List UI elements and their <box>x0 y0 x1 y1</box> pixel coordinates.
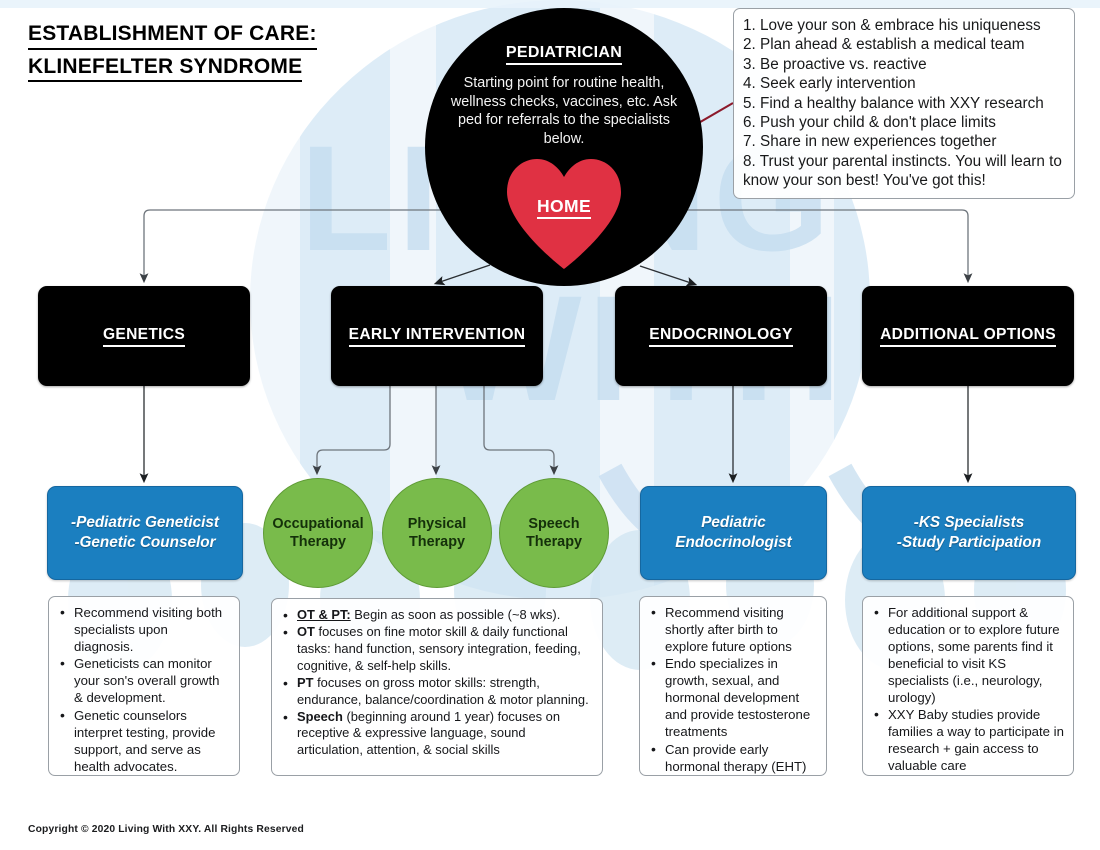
category-additional-options-label: ADDITIONAL OPTIONS <box>880 326 1056 347</box>
notes-endo-item: Recommend visiting shortly after birth t… <box>663 605 817 656</box>
heart-home[interactable]: HOME <box>503 156 625 272</box>
tip-item-1: 1. Love your son & embrace his uniquenes… <box>743 16 1066 35</box>
category-additional-options[interactable]: ADDITIONAL OPTIONS <box>862 286 1074 386</box>
notes-early-rest: focuses on fine motor skill & daily func… <box>297 624 581 672</box>
connector-hub-to-genetics <box>144 210 448 280</box>
therapy-physical-line2: Therapy <box>409 534 465 550</box>
notes-early-intervention: OT & PT: Begin as soon as possible (~8 w… <box>271 598 603 776</box>
provider-additional-line1: -KS Specialists <box>914 514 1025 531</box>
therapy-physical-line1: Physical <box>408 516 466 532</box>
notes-early-item: PT focuses on gross motor skills: streng… <box>295 675 593 708</box>
connector-hub-to-addl <box>682 210 968 280</box>
provider-genetics-line2: -Genetic Counselor <box>74 534 215 551</box>
notes-endocrinology: Recommend visiting shortly after birth t… <box>639 596 827 776</box>
notes-early-item: OT & PT: Begin as soon as possible (~8 w… <box>295 607 593 624</box>
category-endocrinology[interactable]: ENDOCRINOLOGY <box>615 286 827 386</box>
connector-early-to-ot <box>317 386 390 472</box>
page-title-line1: ESTABLISHMENT OF CARE: <box>28 20 317 50</box>
pediatrician-hub[interactable]: PEDIATRICIAN Starting point for routine … <box>425 8 703 286</box>
notes-genetics: Recommend visiting both specialists upon… <box>48 596 240 776</box>
notes-early-rest: focuses on gross motor skills: strength,… <box>297 675 589 707</box>
notes-early-item: Speech (beginning around 1 year) focuses… <box>295 709 593 759</box>
notes-genetics-item: Geneticists can monitor your son's overa… <box>72 656 230 707</box>
hub-description: Starting point for routine health, welln… <box>445 74 683 149</box>
therapy-occupational[interactable]: Occupational Therapy <box>263 478 373 588</box>
provider-endocrinologist[interactable]: Pediatric Endocrinologist <box>640 486 827 580</box>
notes-early-lead: PT <box>297 675 313 690</box>
category-endocrinology-label: ENDOCRINOLOGY <box>649 326 792 347</box>
notes-early-item: OT focuses on fine motor skill & daily f… <box>295 624 593 674</box>
category-early-intervention-label: EARLY INTERVENTION <box>349 326 526 347</box>
notes-genetics-item: Genetic counselors interpret testing, pr… <box>72 708 230 776</box>
tip-item-3: 3. Be proactive vs. reactive <box>743 55 1066 74</box>
copyright-footer: Copyright © 2020 Living With XXY. All Ri… <box>28 824 304 835</box>
therapy-occupational-line2: Therapy <box>290 534 346 550</box>
notes-early-lead: Speech <box>297 709 343 724</box>
notes-addl-item: For additional support & education or to… <box>886 605 1064 707</box>
therapy-speech-line1: Speech <box>528 516 579 532</box>
therapy-occupational-line1: Occupational <box>272 516 363 532</box>
notes-early-lead: OT & PT: <box>297 607 351 622</box>
page-title-line2: KLINEFELTER SYNDROME <box>28 53 302 83</box>
notes-endo-item: Can provide early hormonal therapy (EHT) <box>663 742 817 776</box>
parent-tips-box: 1. Love your son & embrace his uniquenes… <box>733 8 1075 199</box>
connector-hub-to-endo <box>640 266 694 284</box>
notes-addl-item: XXY Baby studies provide families a way … <box>886 707 1064 775</box>
tip-item-8: 8. Trust your parental instincts. You wi… <box>743 152 1066 191</box>
category-genetics-label: GENETICS <box>103 326 185 347</box>
therapy-speech[interactable]: Speech Therapy <box>499 478 609 588</box>
provider-additional-line2: -Study Participation <box>897 534 1041 551</box>
provider-genetics-line1: -Pediatric Geneticist <box>71 514 219 531</box>
provider-endocrinologist-line1: Pediatric <box>701 514 766 531</box>
provider-endocrinologist-line2: Endocrinologist <box>675 534 791 551</box>
notes-genetics-item: Recommend visiting both specialists upon… <box>72 605 230 656</box>
notes-additional-options: For additional support & education or to… <box>862 596 1074 776</box>
tip-item-4: 4. Seek early intervention <box>743 74 1066 93</box>
notes-endo-item: Endo specializes in growth, sexual, and … <box>663 656 817 741</box>
tip-item-6: 6. Push your child & don't place limits <box>743 113 1066 132</box>
tip-item-2: 2. Plan ahead & establish a medical team <box>743 35 1066 54</box>
category-genetics[interactable]: GENETICS <box>38 286 250 386</box>
category-early-intervention[interactable]: EARLY INTERVENTION <box>331 286 543 386</box>
connector-hub-to-early <box>437 265 490 283</box>
infographic-page: LIVING WITH <box>0 0 1100 850</box>
connector-early-to-speech <box>484 386 554 472</box>
therapy-physical[interactable]: Physical Therapy <box>382 478 492 588</box>
notes-early-lead: OT <box>297 624 315 639</box>
therapy-speech-line2: Therapy <box>526 534 582 550</box>
provider-genetics[interactable]: -Pediatric Geneticist -Genetic Counselor <box>47 486 243 580</box>
tip-item-5: 5. Find a healthy balance with XXY resea… <box>743 94 1066 113</box>
tip-item-7: 7. Share in new experiences together <box>743 132 1066 151</box>
notes-early-rest: Begin as soon as possible (~8 wks). <box>351 607 561 622</box>
hub-title: PEDIATRICIAN <box>506 44 622 65</box>
provider-additional-options[interactable]: -KS Specialists -Study Participation <box>862 486 1076 580</box>
page-title: ESTABLISHMENT OF CARE: KLINEFELTER SYNDR… <box>28 20 458 82</box>
home-label: HOME <box>503 196 625 217</box>
